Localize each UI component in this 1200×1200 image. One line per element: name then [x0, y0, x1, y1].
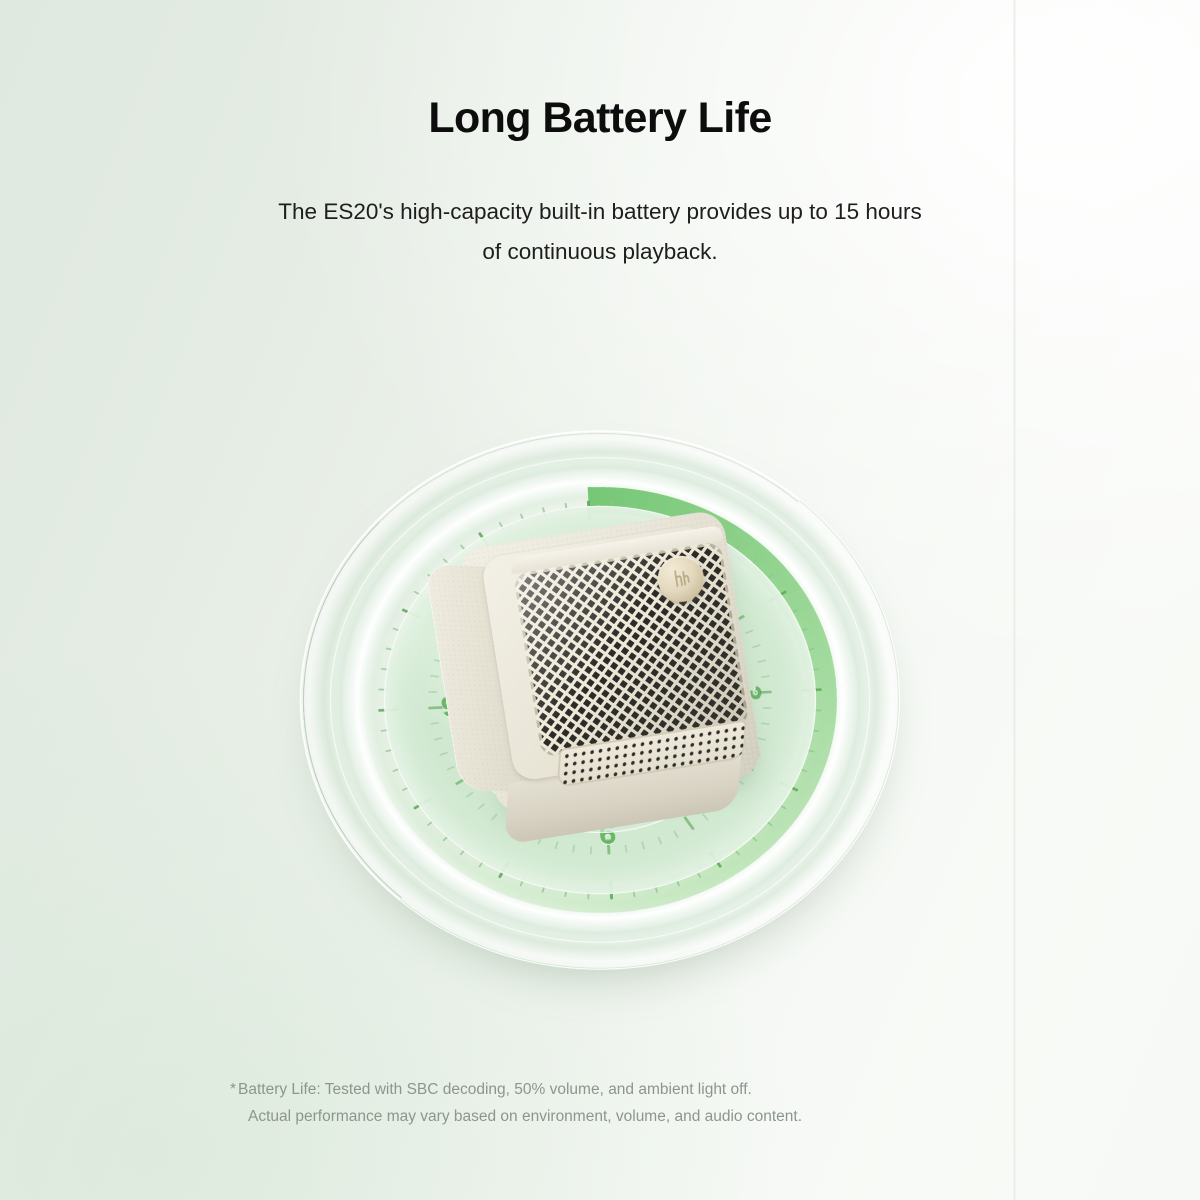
clock-tick-minor: [590, 846, 592, 854]
footnote: * Battery Life: Tested with SBC decoding…: [220, 1076, 980, 1130]
marketing-slide: Long Battery Life The ES20's high-capaci…: [0, 0, 1200, 1200]
footnote-line-2: Actual performance may vary based on env…: [238, 1103, 980, 1130]
subtitle: The ES20's high-capacity built-in batter…: [220, 192, 980, 272]
brand-logo-icon: [655, 553, 708, 606]
clock-tick-minor: [491, 813, 498, 820]
clock-tick-minor: [702, 813, 709, 820]
clock-tick-minor: [745, 629, 754, 634]
page-title: Long Battery Life: [0, 92, 1200, 144]
clock-tick-minor: [430, 675, 439, 678]
subtitle-line-1: The ES20's high-capacity built-in batter…: [278, 199, 921, 224]
clock-tick-minor: [430, 722, 439, 725]
subtitle-line-2: of continuous playback.: [482, 239, 717, 264]
clock-tick-minor: [466, 792, 474, 798]
speaker-faceplate: [480, 524, 739, 783]
clock-tick-minor: [555, 841, 559, 849]
clock-tick-minor: [625, 845, 628, 853]
clock-tick-minor: [478, 803, 485, 810]
clock-tick-minor: [439, 752, 448, 756]
clock-tick-minor: [446, 766, 455, 771]
clock-tick-minor: [572, 845, 575, 853]
clock-tick-minor: [673, 830, 679, 838]
brand-badge: [655, 553, 708, 606]
footnote-marker: *: [230, 1076, 236, 1103]
background-seam: [1013, 0, 1016, 1200]
clock-tick-minor: [434, 737, 443, 740]
product-speaker: [457, 509, 764, 816]
clock-tick-minor: [641, 841, 645, 849]
clock-tick-minor: [428, 691, 437, 693]
clock-tick-minor: [752, 644, 761, 648]
clock-tick-minor: [658, 837, 663, 845]
clock-tick-major: [683, 816, 695, 830]
footnote-line-1: Battery Life: Tested with SBC decoding, …: [238, 1076, 980, 1103]
